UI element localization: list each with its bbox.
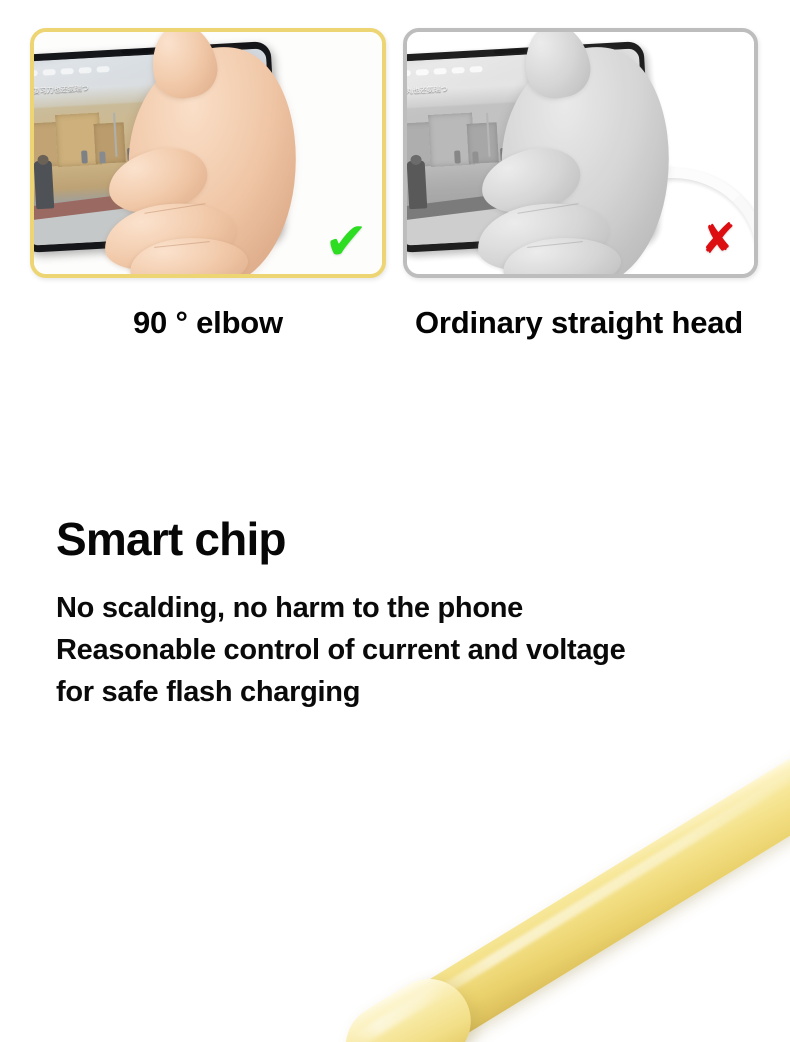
product-detail-page: 不要习刀也还氨瑞つ 比谷七 Gameplay (0, 0, 790, 1042)
comparison-row: 不要习刀也还氨瑞つ 比谷七 Gameplay (0, 0, 790, 290)
hero-cable-photo (0, 740, 790, 1042)
check-icon: ✔ (324, 216, 368, 268)
cross-icon: ✘ (701, 218, 736, 260)
caption-straight-head: Ordinary straight head (399, 305, 759, 341)
feature-description: No scalding, no harm to the phone Reason… (56, 587, 756, 713)
feature-line: Reasonable control of current and voltag… (56, 629, 756, 671)
comparison-panel-bad[interactable]: 刀丸也还氨瑞つ 比谷七 Gameplay (403, 28, 758, 278)
comparison-panel-good[interactable]: 不要习刀也还氨瑞つ 比谷七 Gameplay (30, 28, 386, 278)
feature-line: for safe flash charging (56, 671, 756, 713)
feature-line: No scalding, no harm to the phone (56, 587, 756, 629)
feature-title: Smart chip (56, 513, 756, 565)
feature-block: Smart chip No scalding, no harm to the p… (56, 513, 756, 713)
caption-elbow: 90 ° elbow (30, 305, 386, 341)
